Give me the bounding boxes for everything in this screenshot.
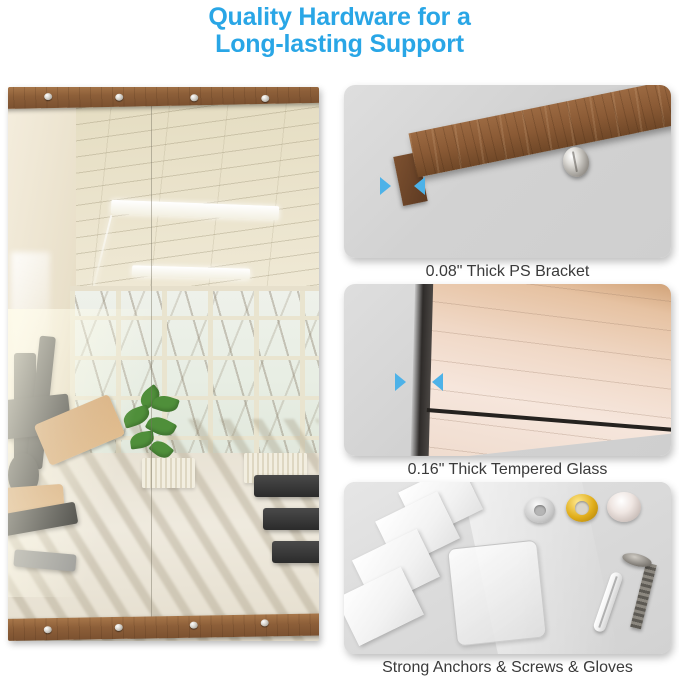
rail-screw-cap [115, 94, 123, 101]
rail-screw-cap [190, 94, 198, 101]
rail-screw-cap [189, 622, 197, 629]
rail-screw-cap [44, 626, 52, 633]
page-title: Quality Hardware for a Long-lasting Supp… [0, 4, 679, 58]
feature-card-hardware [344, 482, 671, 654]
title-line-1: Quality Hardware for a [0, 4, 679, 31]
mirror-surface [427, 284, 671, 456]
thickness-arrow-right-icon [395, 373, 406, 391]
mounting-plate [447, 539, 547, 646]
title-line-2: Long-lasting Support [0, 31, 679, 58]
wood-bracket-bar [408, 85, 671, 178]
gym-scene [8, 87, 319, 641]
thickness-arrow-left-icon [432, 373, 443, 391]
feature-card-tempered-glass [344, 284, 671, 456]
feature-column: 0.08" Thick PS Bracket 0.16" Thick Tempe… [344, 84, 671, 671]
hero-image [8, 87, 319, 641]
thickness-arrow-right-icon [380, 177, 391, 195]
caption-ps-bracket: 0.08" Thick PS Bracket [344, 263, 671, 281]
treadmill [263, 508, 319, 530]
rail-screw-cap [44, 93, 52, 100]
caption-tempered-glass: 0.16" Thick Tempered Glass [344, 461, 671, 479]
caption-hardware: Strong Anchors & Screws & Gloves [344, 659, 671, 677]
rail-screw-cap [260, 619, 268, 626]
rail-screw-cap [115, 624, 123, 631]
thickness-arrow-left-icon [414, 177, 425, 195]
rail-screw-cap [261, 95, 269, 102]
treadmill [254, 475, 319, 497]
mirror-panel-seam [151, 104, 152, 625]
feature-card-ps-bracket [344, 85, 671, 258]
treadmill [272, 541, 319, 563]
bracket-screw-head-icon [560, 145, 591, 179]
